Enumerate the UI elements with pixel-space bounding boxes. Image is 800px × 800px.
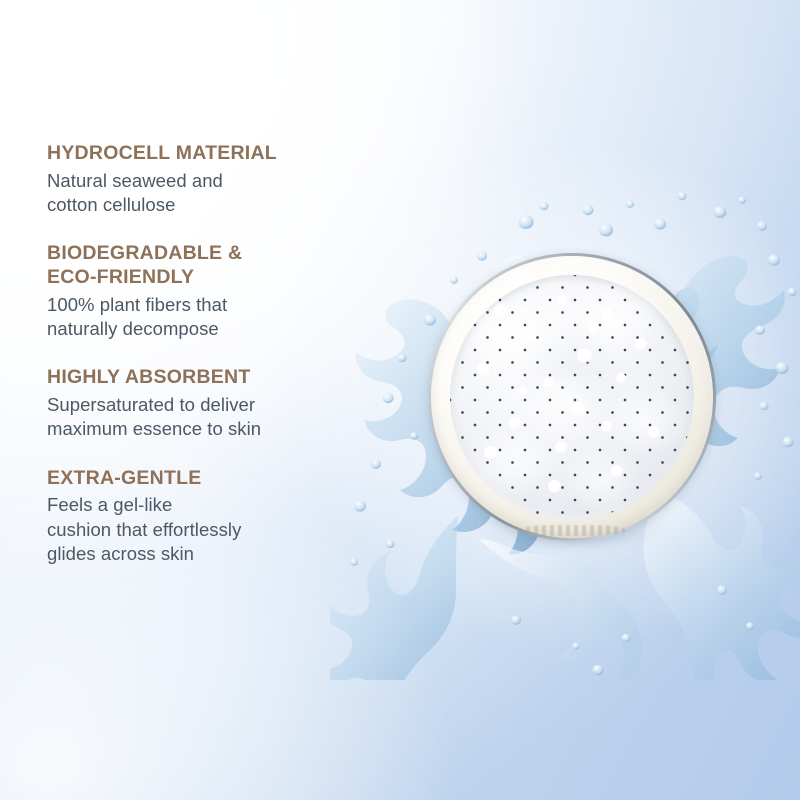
pad-perforated-surface xyxy=(450,275,694,519)
feature-item-hydrocell-material: HYDROCELL MATERIAL Natural seaweed and c… xyxy=(47,142,347,217)
pad-highlight-dot xyxy=(484,446,497,459)
feature-heading: EXTRA-GENTLE xyxy=(47,467,347,491)
feature-heading: HIGHLY ABSORBENT xyxy=(47,366,347,390)
pad-embossed-text xyxy=(518,525,626,536)
feature-item-extra-gentle: EXTRA-GENTLE Feels a gel-like cushion th… xyxy=(47,467,347,567)
feature-heading: HYDROCELL MATERIAL xyxy=(47,142,347,166)
pad-highlight-dot xyxy=(648,426,660,438)
product-image xyxy=(330,160,800,680)
feature-list: HYDROCELL MATERIAL Natural seaweed and c… xyxy=(47,142,347,566)
pad-highlight-dot xyxy=(577,348,592,363)
feature-body: Supersaturated to deliver maximum essenc… xyxy=(47,393,347,442)
pad-highlight-dot xyxy=(509,417,521,429)
feature-item-highly-absorbent: HIGHLY ABSORBENT Supersaturated to deliv… xyxy=(47,366,347,441)
pad-highlight-dot xyxy=(477,363,490,376)
pad-highlight-dot xyxy=(526,329,536,339)
feature-body: Feels a gel-like cushion that effortless… xyxy=(47,493,347,566)
feature-body: 100% plant fibers that naturally decompo… xyxy=(47,293,347,342)
product-benefits-graphic: HYDROCELL MATERIAL Natural seaweed and c… xyxy=(0,0,800,800)
pad-highlight-dot xyxy=(548,480,561,493)
pad-highlight-dot xyxy=(616,373,626,383)
hydrocell-cushion-pad xyxy=(428,253,716,541)
pad-highlight-dot xyxy=(589,324,598,333)
feature-item-biodegradable-eco-friendly: BIODEGRADABLE & ECO-FRIENDLY 100% plant … xyxy=(47,242,347,341)
pad-highlight-dot xyxy=(557,295,568,306)
feature-body: Natural seaweed and cotton cellulose xyxy=(47,169,347,218)
pad-perforation-grid xyxy=(450,275,694,519)
pad-highlight-dot xyxy=(555,441,567,453)
pad-highlight-dot xyxy=(572,402,586,416)
feature-heading: BIODEGRADABLE & ECO-FRIENDLY xyxy=(47,242,347,289)
